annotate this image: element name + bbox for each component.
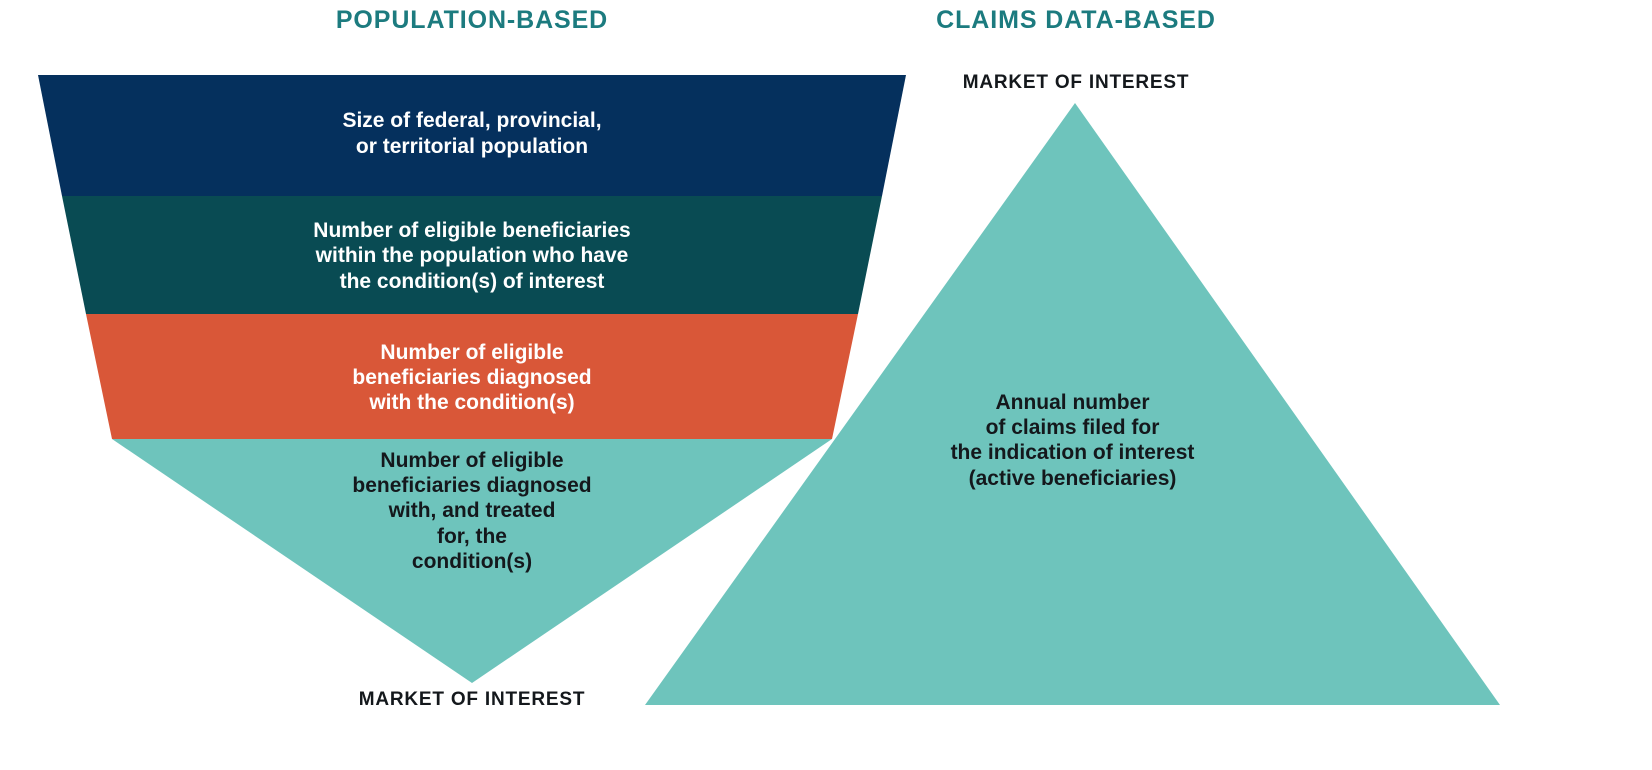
funnel-band-label: Size of federal, provincial, or territor… bbox=[38, 108, 906, 158]
funnel-band-label: Number of eligible beneficiaries within … bbox=[38, 218, 906, 294]
funnel-band-line: Number of eligible bbox=[44, 340, 900, 365]
funnel-band-line: condition(s) bbox=[44, 549, 900, 574]
funnel-band-line: the condition(s) of interest bbox=[44, 269, 900, 294]
claims-line: the indication of interest bbox=[645, 440, 1500, 465]
claims-triangle-label: Annual number of claims filed for the in… bbox=[645, 390, 1500, 491]
funnel-band-line: for, the bbox=[44, 524, 900, 549]
funnel-band-line: with, and treated bbox=[44, 498, 900, 523]
funnel-band-line: beneficiaries diagnosed bbox=[44, 365, 900, 390]
funnel-band-line: Number of eligible beneficiaries bbox=[44, 218, 900, 243]
claims-line: of claims filed for bbox=[645, 415, 1500, 440]
claims-line: Annual number bbox=[645, 390, 1500, 415]
diagram-canvas: POPULATION-BASED CLAIMS DATA-BASED MARKE… bbox=[0, 0, 1652, 770]
funnel-band-line: within the population who have bbox=[44, 243, 900, 268]
funnel-band-line: Size of federal, provincial, bbox=[44, 108, 900, 133]
funnel-band-line: or territorial population bbox=[44, 134, 900, 159]
claims-line: (active beneficiaries) bbox=[645, 466, 1500, 491]
heading-claims-data-based: CLAIMS DATA-BASED bbox=[660, 6, 1492, 35]
